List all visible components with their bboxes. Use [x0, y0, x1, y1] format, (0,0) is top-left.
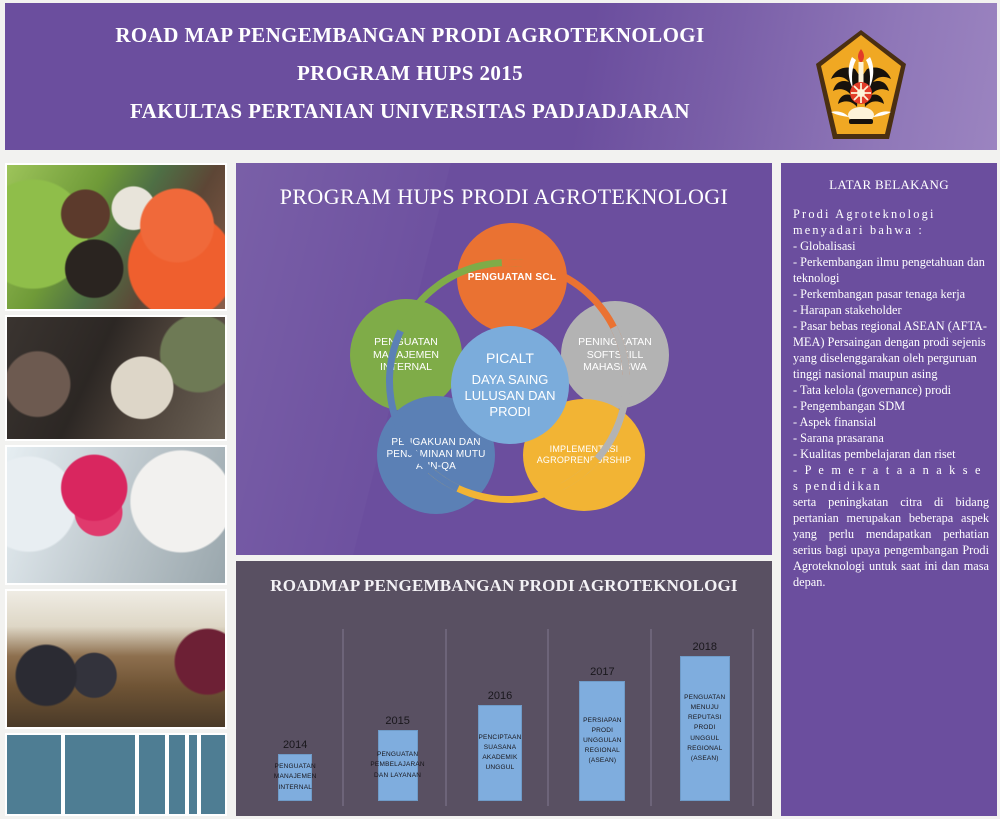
latar-belakang-bullet-10: - Kualitas pembelajaran dan riset — [793, 447, 989, 463]
chart-bar-year-label-2018: 2018 — [693, 641, 717, 653]
latar-belakang-closing: serta peningkatan citra di bidang pertan… — [793, 495, 989, 591]
chart-bar-2015[interactable]: PENGUATAN PEMBELAJARAN DAN LAYANAN — [378, 730, 418, 801]
banner-title-line-2: PROGRAM HUPS 2015 — [65, 63, 755, 84]
chart-bar-group-2016[interactable]: 2016PENCIPTAAN SUASANA AKADEMIK UNGGUL — [478, 690, 522, 801]
photo-students-in-classroom — [5, 589, 227, 729]
chart-bar-2017[interactable]: PERSIAPAN PRODI UNGGULAN REGIONAL (ASEAN… — [579, 681, 625, 801]
chart-gridline-3 — [547, 629, 549, 806]
chart-bar-group-2015[interactable]: 2015PENGUATAN PEMBELAJARAN DAN LAYANAN — [378, 715, 418, 801]
chart-bar-year-label-2015: 2015 — [385, 715, 409, 727]
latar-belakang-title: LATAR BELAKANG — [781, 177, 997, 193]
latar-belakang-bullet-last: - P e m e r a t a a n a k s e s pendidik… — [793, 463, 989, 495]
photo-students-in-laboratory — [5, 445, 227, 585]
diagram-node-center-picalt[interactable]: PICALT DAYA SAING LULUSAN DAN PRODI — [451, 326, 569, 444]
diagram-center-top-label: PICALT — [451, 350, 569, 367]
chart-gridline-1 — [342, 629, 344, 806]
banner-title-line-3: FAKULTAS PERTANIAN UNIVERSITAS PADJADJAR… — [65, 101, 755, 122]
chart-bar-group-2018[interactable]: 2018PENGUATAN MENUJU REPUTASI PRODI UNGG… — [680, 641, 730, 801]
universitas-padjadjaran-logo-icon — [811, 27, 911, 145]
chart-gridline-2 — [445, 629, 447, 806]
hups-circle-diagram: PENGUATAN SCL PENGUATAN MANAJEMEN INTERN… — [236, 219, 772, 549]
teal-block-1 — [5, 733, 63, 816]
roadmap-panel: ROADMAP PENGEMBANGAN PRODI AGROTEKNOLOGI… — [236, 561, 772, 816]
banner-title-line-1: ROAD MAP PENGEMBANGAN PRODI AGROTEKNOLOG… — [65, 25, 755, 46]
poster-header-banner: ROAD MAP PENGEMBANGAN PRODI AGROTEKNOLOG… — [5, 3, 997, 150]
banner-title-block: ROAD MAP PENGEMBANGAN PRODI AGROTEKNOLOG… — [65, 25, 755, 139]
chart-bar-2016[interactable]: PENCIPTAAN SUASANA AKADEMIK UNGGUL — [478, 705, 522, 801]
latar-belakang-bullet-1: - Globalisasi — [793, 239, 989, 255]
latar-belakang-panel: LATAR BELAKANG Prodi Agroteknologi menya… — [781, 163, 997, 816]
photo-students-in-greenhouse — [5, 163, 227, 311]
chart-bar-group-2014[interactable]: 2014PENGUATAN MANAJEMEN INTERNAL — [278, 739, 312, 801]
latar-belakang-bullet-6: - Tata kelola (governance) prodi — [793, 383, 989, 399]
latar-belakang-bullet-2: - Perkembangan ilmu pengetahuan dan tekn… — [793, 255, 989, 287]
teal-block-2 — [63, 733, 137, 816]
roadmap-panel-title: ROADMAP PENGEMBANGAN PRODI AGROTEKNOLOGI — [236, 576, 772, 596]
chart-bar-year-label-2016: 2016 — [488, 690, 512, 702]
latar-belakang-bullet-8: - Aspek finansial — [793, 415, 989, 431]
teal-block-3 — [137, 733, 167, 816]
latar-belakang-bullet-7: - Pengembangan SDM — [793, 399, 989, 415]
photo-students-in-library — [5, 315, 227, 441]
latar-belakang-bullet-4: - Harapan stakeholder — [793, 303, 989, 319]
teal-block-4 — [167, 733, 187, 816]
chart-bar-year-label-2017: 2017 — [590, 666, 614, 678]
roadmap-bar-chart: 2014PENGUATAN MANAJEMEN INTERNAL2015PENG… — [248, 621, 760, 806]
chart-bar-year-label-2014: 2014 — [283, 739, 307, 751]
program-hups-panel-title: PROGRAM HUPS PRODI AGROTEKNOLOGI — [236, 184, 772, 210]
poster-root: ROAD MAP PENGEMBANGAN PRODI AGROTEKNOLOG… — [0, 0, 1000, 819]
latar-belakang-bullet-9: - Sarana prasarana — [793, 431, 989, 447]
teal-block-5 — [187, 733, 199, 816]
latar-belakang-bullet-3: - Perkembangan pasar tenaga kerja — [793, 287, 989, 303]
chart-bar-group-2017[interactable]: 2017PERSIAPAN PRODI UNGGULAN REGIONAL (A… — [579, 666, 625, 801]
diagram-center-body-label: DAYA SAING LULUSAN DAN PRODI — [464, 372, 555, 419]
photo-column — [5, 163, 227, 816]
latar-belakang-intro: Prodi Agroteknologi menyadari bahwa : — [793, 207, 989, 239]
program-hups-panel: PROGRAM HUPS PRODI AGROTEKNOLOGI PENGUAT… — [236, 163, 772, 555]
latar-belakang-bullet-list: - Globalisasi- Perkembangan ilmu pengeta… — [793, 239, 989, 463]
chart-bar-2018[interactable]: PENGUATAN MENUJU REPUTASI PRODI UNGGUL R… — [680, 656, 730, 801]
chart-bar-2014[interactable]: PENGUATAN MANAJEMEN INTERNAL — [278, 754, 312, 801]
latar-belakang-bullet-5: - Pasar bebas regional ASEAN (AFTA-MEA) … — [793, 319, 989, 383]
teal-block-6 — [199, 733, 227, 816]
latar-belakang-body: Prodi Agroteknologi menyadari bahwa : - … — [793, 207, 989, 591]
chart-gridline-4 — [650, 629, 652, 806]
teal-block-row — [5, 733, 227, 816]
chart-gridline-5 — [752, 629, 754, 806]
